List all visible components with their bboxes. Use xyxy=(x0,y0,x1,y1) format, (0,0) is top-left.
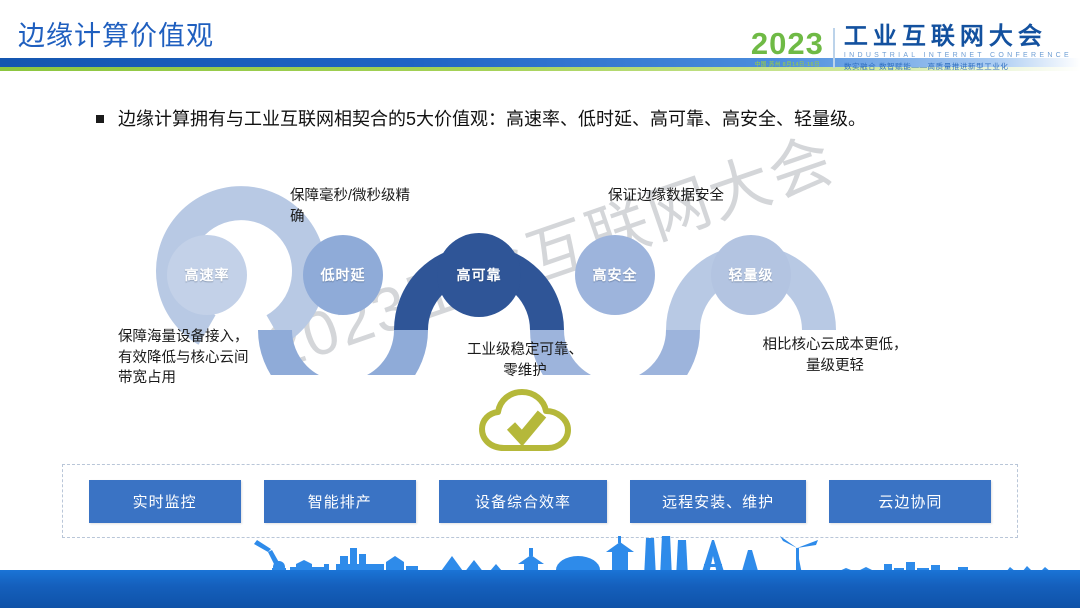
node-label-1: 低时延 xyxy=(321,265,366,285)
node-label-4: 轻量级 xyxy=(729,265,774,285)
caption-node-4-line-1: 相比核心云成本更低， xyxy=(763,335,908,356)
caption-node-4: 相比核心云成本更低， 量级更轻 xyxy=(763,335,908,376)
bottom-box-3[interactable]: 远程安装、维护 xyxy=(630,480,806,523)
caption-node-2-line-2: 零维护 xyxy=(467,361,583,382)
bullet-row: 边缘计算拥有与工业互联网相契合的5大价值观：高速率、低时延、高可靠、高安全、轻量… xyxy=(96,106,866,132)
logo-separator xyxy=(833,28,835,68)
caption-node-2-line-1: 工业级稳定可靠、 xyxy=(467,340,583,361)
caption-node-0: 保障海量设备接入， 有效降低与核心云间 带宽占用 xyxy=(118,327,249,389)
caption-node-0-line-2: 有效降低与核心云间 xyxy=(118,348,249,369)
bullet-marker-icon xyxy=(96,115,104,123)
bottom-box-4[interactable]: 云边协同 xyxy=(829,480,991,523)
logo-tagline: 数实融合 数智赋能——高质量推进新型工业化 xyxy=(844,61,1072,72)
bottom-box-2[interactable]: 设备综合效率 xyxy=(439,480,607,523)
caption-node-4-line-2: 量级更轻 xyxy=(763,356,908,377)
caption-node-1: 保障毫秒/微秒级精 确 xyxy=(290,186,410,227)
caption-node-1-line-2: 确 xyxy=(290,207,410,228)
conference-logo: 2023 中国·苏州 8月14日-16日 工业互联网大会 INDUSTRIAL … xyxy=(751,22,1072,74)
caption-node-0-line-3: 带宽占用 xyxy=(118,368,249,389)
bottom-boxes-row: 实时监控 智能排产 设备综合效率 远程安装、维护 云边协同 xyxy=(63,465,1017,537)
logo-text-block: 工业互联网大会 INDUSTRIAL INTERNET CONFERENCE 数… xyxy=(844,24,1072,71)
caption-node-1-line-1: 保障毫秒/微秒级精 xyxy=(290,186,410,207)
caption-node-3: 保证边缘数据安全 xyxy=(608,186,724,207)
node-label-0: 高速率 xyxy=(185,265,230,285)
footer-skyline xyxy=(0,536,1080,608)
logo-year-block: 2023 中国·苏州 8月14日-16日 xyxy=(751,28,833,69)
cloud-check-icon xyxy=(478,388,574,454)
logo-name-en: INDUSTRIAL INTERNET CONFERENCE xyxy=(844,52,1072,59)
page-title: 边缘计算价值观 xyxy=(18,14,214,53)
slide-root: 边缘计算价值观 2023 中国·苏州 8月14日-16日 工业互联网大会 IND… xyxy=(0,0,1080,608)
bullet-text: 边缘计算拥有与工业互联网相契合的5大价值观：高速率、低时延、高可靠、高安全、轻量… xyxy=(118,106,866,132)
bottom-box-0[interactable]: 实时监控 xyxy=(89,480,241,523)
caption-node-0-line-1: 保障海量设备接入， xyxy=(118,327,249,348)
logo-year-text: 2023 xyxy=(751,28,824,59)
bottom-box-1[interactable]: 智能排产 xyxy=(264,480,416,523)
node-label-2: 高可靠 xyxy=(457,265,502,285)
caption-node-2: 工业级稳定可靠、 零维护 xyxy=(467,340,583,381)
logo-year-subtitle: 中国·苏州 8月14日-16日 xyxy=(755,63,820,69)
node-label-3: 高安全 xyxy=(593,265,638,285)
bottom-boxes-frame: 实时监控 智能排产 设备综合效率 远程安装、维护 云边协同 xyxy=(62,464,1018,538)
footer-water-band xyxy=(0,570,1080,608)
caption-node-3-line-1: 保证边缘数据安全 xyxy=(608,186,724,207)
logo-name-cn: 工业互联网大会 xyxy=(844,24,1072,49)
arc-node-1 xyxy=(275,330,411,375)
